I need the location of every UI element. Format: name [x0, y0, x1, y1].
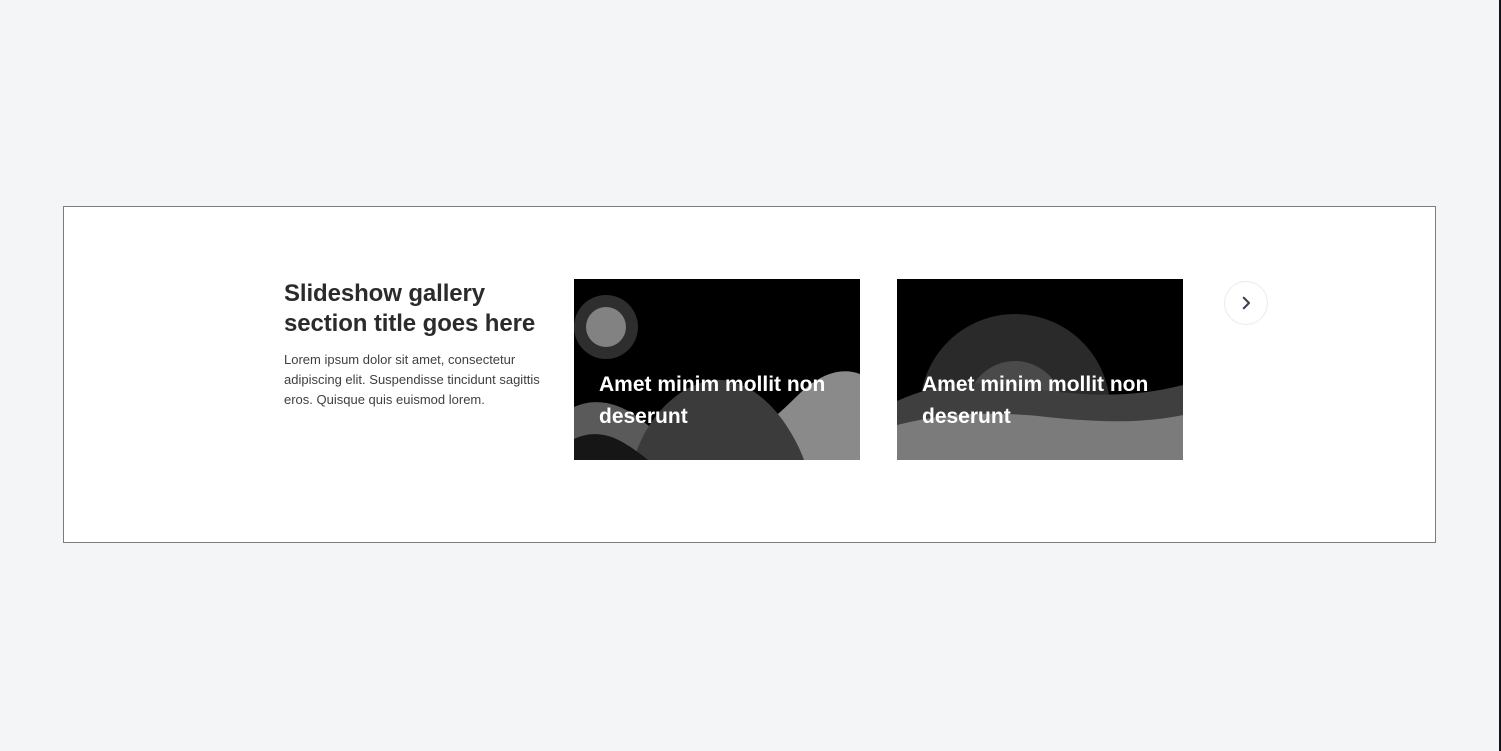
- slide-title: Amet minim mollit non deserunt: [922, 369, 1163, 433]
- section-description: Lorem ipsum dolor sit amet, consectetur …: [284, 350, 540, 410]
- slide-card[interactable]: Amet minim mollit non deserunt: [574, 279, 860, 460]
- slide-card[interactable]: Amet minim mollit non deserunt: [897, 279, 1183, 460]
- slideshow-gallery-section: Slideshow gallery section title goes her…: [63, 206, 1436, 543]
- slides-carousel-track[interactable]: Amet minim mollit non deserunt Amet mini…: [574, 279, 1183, 460]
- page-title: Slideshow gallery section title goes her…: [284, 279, 540, 339]
- chevron-right-icon: [1238, 295, 1254, 311]
- slide-title: Amet minim mollit non deserunt: [599, 369, 840, 433]
- slideshow-text-column: Slideshow gallery section title goes her…: [284, 279, 574, 410]
- next-slide-button[interactable]: [1224, 281, 1268, 325]
